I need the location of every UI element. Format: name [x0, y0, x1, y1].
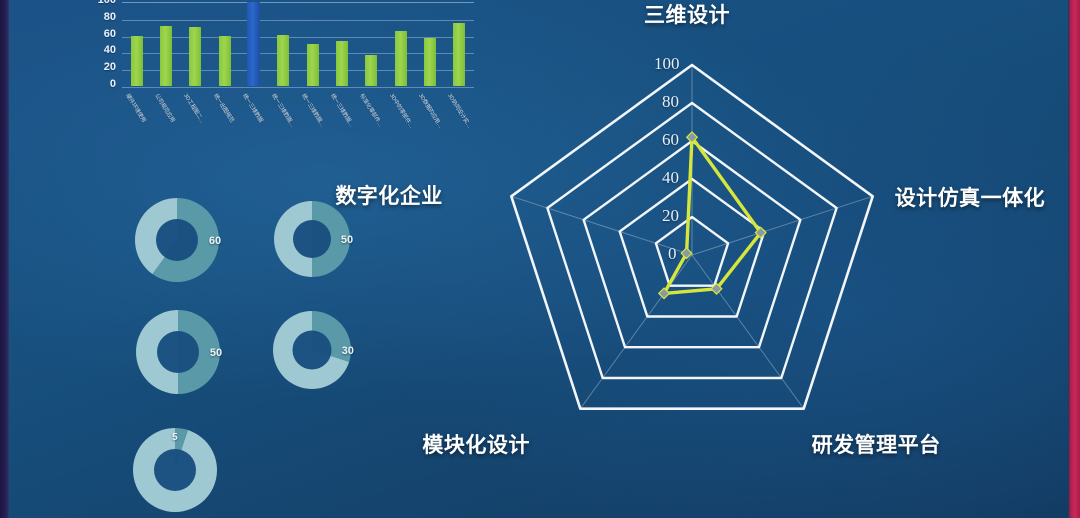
radar-tick-label: 60: [662, 130, 679, 150]
bar-chart-category-label: 公司规范应用: [153, 92, 177, 124]
donut-chart-value-label: 60: [209, 235, 221, 247]
radar-spoke: [692, 255, 804, 409]
bar-chart-bar: [307, 44, 319, 86]
radar-axis-label: 研发管理平台: [812, 429, 941, 459]
donut-chart-value-label: 50: [341, 234, 353, 246]
bar-chart-bar: [395, 31, 407, 86]
donut-chart: [273, 311, 351, 389]
radar-spoke: [692, 196, 873, 255]
donut-chart-hole: [293, 220, 331, 258]
slide-canvas: 020406080100 硬件环境使用公司规范应用3D工程图二…统一出图规范统一…: [0, 0, 1080, 518]
radar-tick-label: 80: [662, 92, 679, 112]
donut-chart-hole: [157, 331, 199, 373]
radar-spokes: [511, 65, 872, 409]
bar-chart-plot-area: [122, 2, 474, 86]
bar-chart-bar-slot: [122, 2, 151, 86]
bar-chart: 020406080100 硬件环境使用公司规范应用3D工程图二…统一出图规范统一…: [78, 0, 483, 150]
bar-chart-bar: [160, 26, 172, 86]
bar-chart-bar-slot: [239, 2, 268, 86]
donut-chart-hole: [154, 449, 196, 491]
bar-chart-y-tick: 40: [104, 45, 116, 56]
bar-chart-y-tick: 80: [104, 12, 116, 23]
bar-chart-category-label: 统一三维数据…: [329, 92, 356, 128]
bar-chart-bar: [131, 36, 143, 86]
bar-chart-y-tick: 0: [110, 79, 116, 90]
bar-chart-bar: [219, 36, 231, 86]
donut-chart-hole: [156, 219, 198, 261]
bar-chart-y-tick: 60: [104, 29, 116, 40]
bar-chart-bar-slot: [181, 2, 210, 86]
radar-chart: 020406080100 三维设计设计仿真一体化研发管理平台模块化设计数字化企业: [430, 20, 1080, 490]
bar-chart-category-label: 标准化零部件…: [359, 92, 386, 128]
bar-chart-bar: [189, 27, 201, 86]
donut-chart: [274, 201, 350, 277]
radar-axis-label: 模块化设计: [422, 429, 530, 459]
bar-chart-bar-slot: [298, 2, 327, 86]
bar-chart-bar: [365, 55, 377, 86]
donut-chart: [136, 310, 220, 394]
bar-chart-bar-highlighted: [247, 2, 260, 86]
bar-chart-bar-slot: [357, 2, 386, 86]
donut-chart-value-label: 30: [342, 345, 354, 357]
bar-chart-bar: [336, 41, 348, 86]
bar-chart-category-label: 统一三维数据…: [271, 92, 298, 128]
bar-chart-category-label: 统一出图规范: [212, 92, 236, 124]
bar-chart-bars: [122, 2, 474, 86]
left-edge-band: [0, 0, 9, 518]
bar-chart-category-label: 3D中的零部件…: [388, 92, 416, 129]
donut-chart-value-label: 5: [172, 432, 178, 443]
radar-tick-label: 0: [668, 244, 677, 264]
donut-chart-value-label: 50: [210, 347, 222, 359]
bar-chart-bar-slot: [151, 2, 180, 86]
bar-chart-category-label: 3D工程图二…: [183, 92, 208, 125]
radar-axis-label: 数字化企业: [335, 180, 443, 210]
bar-chart-bar-slot: [386, 2, 415, 86]
radar-tick-label: 40: [662, 168, 679, 188]
radar-tick-label: 100: [654, 54, 680, 74]
bar-chart-y-tick: 100: [98, 0, 116, 6]
bar-chart-bar-slot: [210, 2, 239, 86]
donut-chart-hole: [293, 331, 332, 370]
radar-axis-label: 设计仿真一体化: [895, 182, 1046, 212]
radar-axis-label: 三维设计: [644, 0, 730, 29]
bar-chart-bar-slot: [269, 2, 298, 86]
donut-chart: [135, 198, 219, 282]
bar-chart-bar-slot: [327, 2, 356, 86]
radar-tick-label: 20: [662, 206, 679, 226]
radar-chart-svg: [430, 20, 1080, 490]
bar-chart-y-axis: 020406080100: [78, 0, 118, 90]
bar-chart-category-labels: 硬件环境使用公司规范应用3D工程图二…统一出图规范统一三维数据统一三维数据…统一…: [122, 86, 474, 148]
radar-spoke: [580, 255, 692, 409]
bar-chart-category-label: 统一三维数据: [241, 92, 265, 124]
bar-chart-y-tick: 20: [104, 62, 116, 73]
bar-chart-category-label: 硬件环境使用: [124, 92, 148, 124]
bar-chart-bar: [277, 35, 289, 86]
bar-chart-category-label: 统一三维数据…: [300, 92, 327, 128]
